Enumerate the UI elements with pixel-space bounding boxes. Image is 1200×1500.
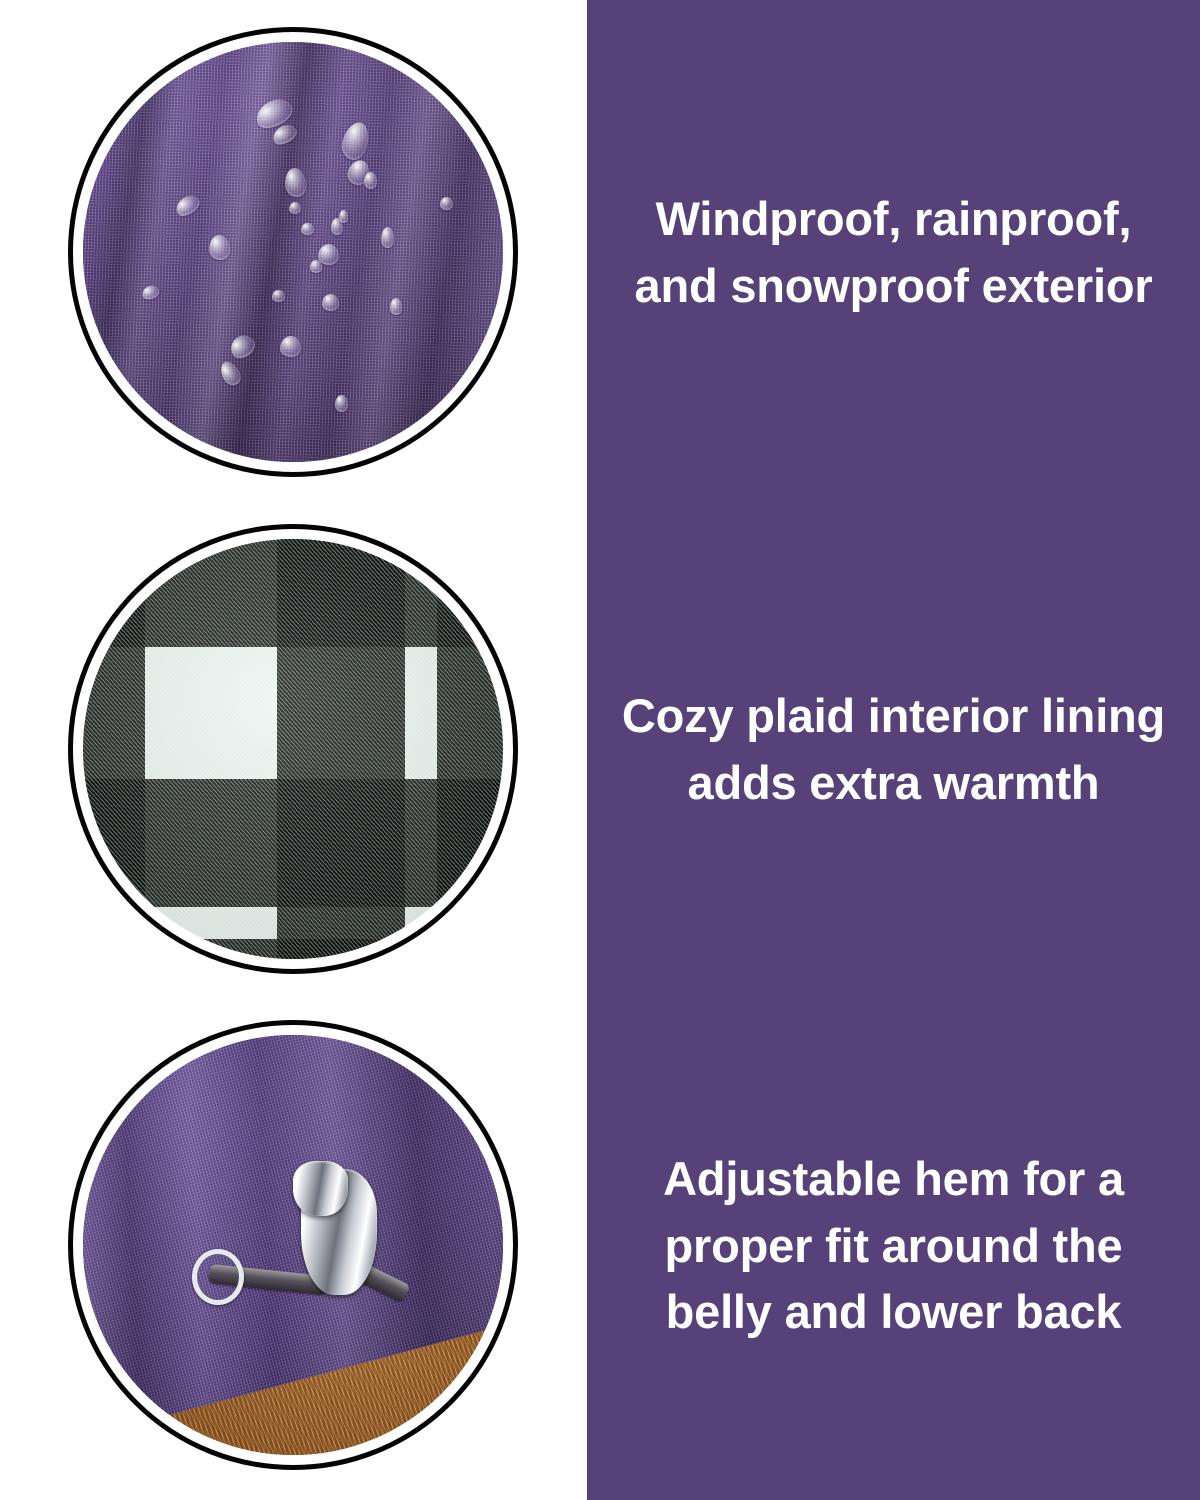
- water-bead: [289, 202, 302, 215]
- water-bead: [440, 197, 453, 210]
- medallion-inner: [83, 539, 503, 959]
- water-bead: [335, 395, 348, 412]
- medallion-inner: [83, 1035, 503, 1455]
- feature-image-plaid-lining: [68, 524, 518, 974]
- feature-row-plaid-lining: Cozy plaid interior lining adds extra wa…: [0, 524, 1200, 976]
- water-bead: [173, 192, 203, 220]
- product-feature-infographic: Windproof, rainproof, and snowproof exte…: [0, 0, 1200, 1500]
- feature-label-windproof: Windproof, rainproof, and snowproof exte…: [611, 186, 1176, 319]
- water-bead: [301, 223, 314, 236]
- water-bead: [381, 227, 394, 248]
- water-bead: [310, 260, 323, 273]
- cord-lock-toggle-cap: [293, 1161, 348, 1216]
- water-bead: [272, 290, 285, 303]
- water-bead: [280, 336, 301, 357]
- feature-text-adjustable-hem: Adjustable hem for a proper fit around t…: [587, 1020, 1200, 1472]
- black-and-white-buffalo-plaid-flannel-lining-image: [83, 539, 503, 959]
- water-bead: [318, 244, 339, 265]
- medallion-inner: [83, 42, 503, 462]
- purple-hem-with-silver-cord-lock-toggle-on-dog-fur-image: [83, 1035, 503, 1455]
- water-bead: [216, 359, 243, 389]
- feature-image-windproof: [68, 27, 518, 477]
- water-bead: [364, 172, 377, 189]
- water-bead: [208, 234, 232, 261]
- water-bead: [339, 119, 374, 162]
- water-bead: [283, 167, 308, 199]
- water-bead: [140, 283, 160, 301]
- plaid-shading: [83, 539, 503, 959]
- feature-text-plaid-lining: Cozy plaid interior lining adds extra wa…: [587, 524, 1200, 976]
- feature-label-adjustable-hem: Adjustable hem for a proper fit around t…: [611, 1146, 1176, 1346]
- water-bead: [226, 331, 259, 363]
- water-bead: [390, 298, 403, 315]
- feature-row-adjustable-hem: Adjustable hem for a proper fit around t…: [0, 1020, 1200, 1472]
- purple-waterproof-ripstop-fabric-with-water-beads-image: [83, 42, 503, 462]
- feature-label-plaid-lining: Cozy plaid interior lining adds extra wa…: [611, 683, 1176, 816]
- feature-row-windproof: Windproof, rainproof, and snowproof exte…: [0, 27, 1200, 479]
- feature-text-windproof: Windproof, rainproof, and snowproof exte…: [587, 27, 1200, 479]
- water-bead: [339, 210, 347, 223]
- feature-image-adjustable-hem: [68, 1020, 518, 1470]
- water-bead: [322, 294, 339, 311]
